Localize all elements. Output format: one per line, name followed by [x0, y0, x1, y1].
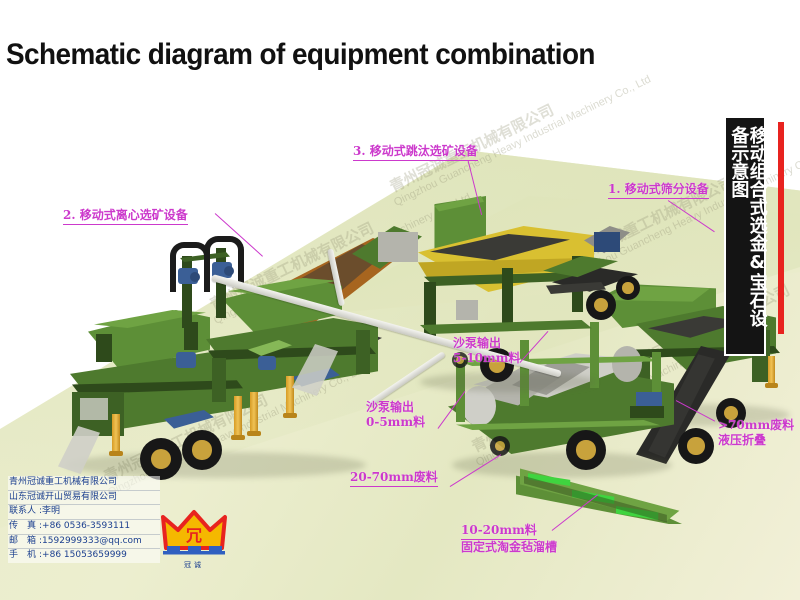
callout-jig-line1: 3. 移动式跳汰选矿设备 [353, 144, 478, 161]
page-title: Schematic diagram of equipment combinati… [6, 38, 595, 72]
callout-jig: 3. 移动式跳汰选矿设备 [353, 144, 478, 161]
callout-pump-5-10-line2: 5-10mm料 [453, 351, 520, 366]
contact-person-value: 李明 [42, 506, 60, 516]
callout-waste-20-70: 20-70mm废料 [350, 470, 438, 487]
vertical-title-banner: 移动组合式选金&宝石设备示意图 [724, 116, 766, 356]
callout-pump-0-5-line2: 0-5mm料 [366, 415, 425, 430]
callout-centrifugal: 2. 移动式离心选矿设备 [63, 208, 188, 225]
contact-company-2: 山东冠诚开山贸易有限公司 [8, 491, 160, 506]
contact-mobile-label: 手 机 [9, 549, 39, 563]
vertical-title-text: 移动组合式选金&宝石设备示意图 [729, 126, 766, 344]
callout-pump-0-5-line1: 沙泵输出 [366, 400, 414, 414]
callout-sluice: 10-20mm料 固定式淘金毡溜槽 [461, 523, 557, 555]
contact-email-row: 邮 箱:1592999333@qq.com [8, 535, 160, 550]
contact-fax-row: 传 真:+86 0536-3593111 [8, 520, 160, 535]
contact-person-label: 联系人 [9, 505, 39, 519]
diagram-canvas: Schematic diagram of equipment combinati… [0, 0, 800, 600]
contact-fax-value: +86 0536-3593111 [42, 521, 130, 531]
contact-person-row: 联系人:李明 [8, 505, 160, 520]
contact-company-1: 青州冠诚重工机械有限公司 [8, 476, 160, 491]
callout-waste-70-line1: >70mm废料 [718, 418, 794, 432]
callout-sluice-line2: 固定式淘金毡溜槽 [461, 540, 557, 555]
crown-icon: 冗 [160, 508, 228, 562]
contact-fax-label: 传 真 [9, 520, 39, 534]
callout-pump-0-5: 沙泵输出 0-5mm料 [366, 400, 425, 430]
callout-screening-line1: 1. 移动式筛分设备 [608, 182, 709, 199]
contact-info-card: 青州冠诚重工机械有限公司 山东冠诚开山贸易有限公司 联系人:李明 传 真:+86… [8, 476, 160, 563]
callout-pump-5-10-line1: 沙泵输出 [453, 336, 501, 350]
contact-mobile-value: +86 15053659999 [42, 550, 127, 560]
logo-caption: 冠诚 [160, 560, 228, 570]
callout-waste-20-70-line1: 20-70mm废料 [350, 470, 438, 487]
callout-waste-70: >70mm废料 液压折叠 [718, 418, 794, 448]
company-logo: 冗 冠诚 [160, 508, 228, 570]
contact-email-label: 邮 箱 [9, 535, 39, 549]
callout-centrifugal-line1: 2. 移动式离心选矿设备 [63, 208, 188, 225]
banner-accent-bar [778, 122, 784, 334]
callout-screening: 1. 移动式筛分设备 [608, 182, 709, 199]
contact-email-value: 1592999333@qq.com [42, 536, 142, 546]
contact-mobile-row: 手 机:+86 15053659999 [8, 549, 160, 563]
svg-text:冗: 冗 [185, 526, 202, 545]
callout-waste-70-line2: 液压折叠 [718, 433, 794, 448]
callout-sluice-line1: 10-20mm料 [461, 523, 537, 540]
callout-pump-5-10: 沙泵输出 5-10mm料 [453, 336, 520, 366]
